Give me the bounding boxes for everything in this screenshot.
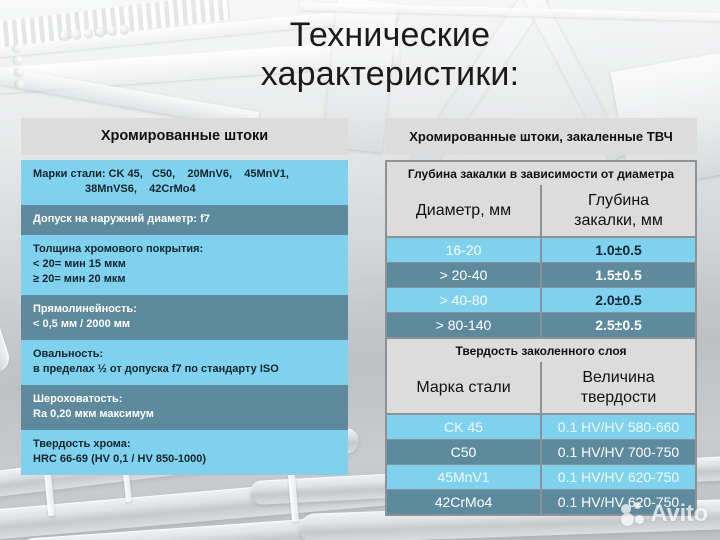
- avito-dots-icon: [621, 502, 645, 526]
- left-spec-line: Марки стали: CK 45, C50, 20MnV6, 45MnV1,: [33, 167, 336, 182]
- page-title: Технические характеристики:: [0, 16, 720, 93]
- hardness-col-value-header-line2: твердости: [581, 389, 657, 406]
- left-spec-line: HRC 66-69 (HV 0,1 / HV 850-1000): [33, 452, 336, 467]
- left-spec-line: ≥ 20= мин 20 мкм: [33, 272, 336, 287]
- cell-diameter: > 80-140: [387, 312, 541, 337]
- cell-grade: C50: [387, 439, 541, 464]
- cell-depth: 1.0±0.5: [541, 237, 695, 262]
- cell-hardness: 0.1 HV/HV 620-750: [541, 464, 695, 489]
- left-spec-line: в пределах ½ от допуска f7 по стандарту …: [33, 362, 336, 377]
- right-panel-table: Глубина закалки в зависимости от диаметр…: [385, 160, 697, 516]
- avito-watermark: Avito: [621, 500, 708, 528]
- slide-canvas: Технические характеристики: Хромированны…: [0, 0, 720, 540]
- hardness-section-subheader: Твердость заколенного слоя: [387, 337, 695, 362]
- left-spec-line: < 20= мин 15 мкм: [33, 257, 336, 272]
- left-spec-row: Шероховатость:Ra 0,20 мкм максимум: [21, 385, 348, 430]
- page-title-line-1: Технические: [60, 16, 720, 54]
- depth-section-subheader: Глубина закалки в зависимости от диаметр…: [387, 160, 695, 185]
- depth-table: Диаметр, мм Глубина закалки, мм 16-201.0…: [387, 185, 695, 337]
- cell-grade: 42CrMo4: [387, 489, 541, 514]
- cell-grade: 45MnV1: [387, 464, 541, 489]
- cell-diameter: > 40-80: [387, 287, 541, 312]
- left-panel-header: Хромированные штоки: [21, 118, 348, 155]
- avito-wordmark: Avito: [650, 500, 708, 528]
- table-row: > 80-1402.5±0.5: [387, 312, 695, 337]
- left-spec-row: Допуск на наружний диаметр: f7: [21, 205, 348, 235]
- table-row: CK 450.1 HV/HV 580-660: [387, 414, 695, 439]
- left-panel-rows: Марки стали: CK 45, C50, 20MnV6, 45MnV1,…: [21, 160, 348, 475]
- cell-diameter: > 20-40: [387, 262, 541, 287]
- left-spec-line: Прямолинейность:: [33, 302, 336, 317]
- left-spec-row: Твердость хрома:HRC 66-69 (HV 0,1 / HV 8…: [21, 430, 348, 475]
- chromed-rods-panel: Хромированные штоки Марки стали: CK 45, …: [21, 118, 348, 475]
- table-row: 45MnV10.1 HV/HV 620-750: [387, 464, 695, 489]
- table-row: 16-201.0±0.5: [387, 237, 695, 262]
- left-spec-line: Твердость хрома:: [33, 437, 336, 452]
- table-row: C500.1 HV/HV 700-750: [387, 439, 695, 464]
- left-spec-line: Ra 0,20 мкм максимум: [33, 407, 336, 422]
- left-spec-row: Прямолинейность:< 0,5 мм / 2000 мм: [21, 295, 348, 340]
- depth-col-depth-header: Глубина закалки, мм: [541, 185, 695, 237]
- depth-col-depth-header-line1: Глубина: [588, 192, 649, 209]
- cell-hardness: 0.1 HV/HV 580-660: [541, 414, 695, 439]
- left-spec-row: Марки стали: CK 45, C50, 20MnV6, 45MnV1,…: [21, 160, 348, 205]
- hardness-table: Марка стали Величина твердости CK 450.1 …: [387, 362, 695, 514]
- left-spec-line: 38MnVS6, 42CrMo4: [33, 182, 336, 197]
- hardness-col-value-header-line1: Величина: [582, 369, 654, 386]
- cell-grade: CK 45: [387, 414, 541, 439]
- cell-depth: 1.5±0.5: [541, 262, 695, 287]
- hardness-col-value-header: Величина твердости: [541, 362, 695, 414]
- right-panel-header: Хромированные штоки, закаленные ТВЧ: [385, 118, 697, 155]
- cell-diameter: 16-20: [387, 237, 541, 262]
- cell-depth: 2.0±0.5: [541, 287, 695, 312]
- hardness-col-grade-header: Марка стали: [387, 362, 541, 414]
- left-spec-row: Толщина хромового покрытия:< 20= мин 15 …: [21, 235, 348, 295]
- depth-col-diameter-header: Диаметр, мм: [387, 185, 541, 237]
- table-row: > 40-802.0±0.5: [387, 287, 695, 312]
- left-spec-line: Овальность:: [33, 347, 336, 362]
- depth-column-headers: Диаметр, мм Глубина закалки, мм: [387, 185, 695, 237]
- left-spec-line: < 0,5 мм / 2000 мм: [33, 317, 336, 332]
- hardness-column-headers: Марка стали Величина твердости: [387, 362, 695, 414]
- cell-hardness: 0.1 HV/HV 700-750: [541, 439, 695, 464]
- left-spec-line: Шероховатость:: [33, 392, 336, 407]
- left-spec-row: Овальность:в пределах ½ от допуска f7 по…: [21, 340, 348, 385]
- left-spec-line: Толщина хромового покрытия:: [33, 242, 336, 257]
- cell-depth: 2.5±0.5: [541, 312, 695, 337]
- table-row: > 20-401.5±0.5: [387, 262, 695, 287]
- depth-col-depth-header-line2: закалки, мм: [574, 212, 663, 229]
- page-title-line-2: характеристики:: [60, 55, 720, 93]
- induction-hardened-rods-panel: Хромированные штоки, закаленные ТВЧ Глуб…: [385, 118, 697, 516]
- left-spec-line: Допуск на наружний диаметр: f7: [33, 212, 336, 227]
